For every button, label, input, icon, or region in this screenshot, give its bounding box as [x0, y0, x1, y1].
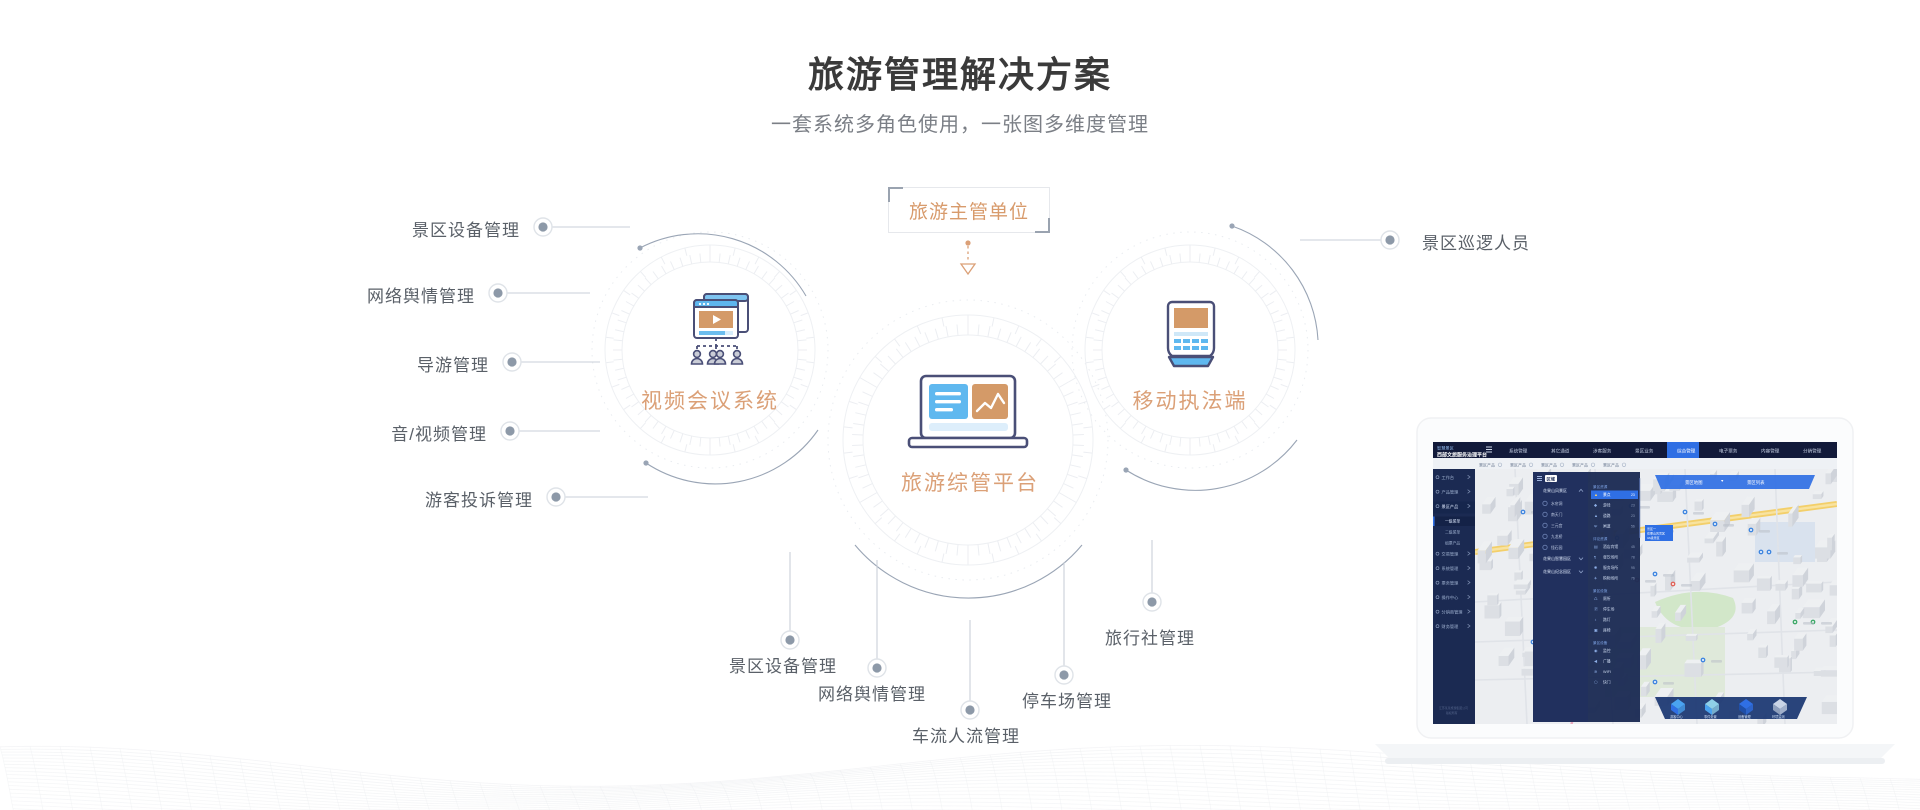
svg-text:花果山纪念园区: 花果山纪念园区 — [1543, 568, 1571, 574]
authority-arrow — [961, 240, 975, 274]
laptop-dashboard-icon — [898, 370, 1038, 460]
node-label: 导游管理 — [417, 351, 489, 376]
authority-box: 旅游主管单位 — [888, 187, 1050, 233]
svg-text:组票产品: 组票产品 — [1445, 541, 1460, 546]
svg-text:景区产品: 景区产品 — [1510, 462, 1526, 468]
svg-text:¶: ¶ — [1594, 555, 1596, 560]
svg-text:♁: ♁ — [1594, 617, 1597, 622]
svg-text:购物场所: 购物场所 — [1603, 576, 1618, 581]
svg-text:停车场: 停车场 — [1603, 607, 1615, 612]
node-label: 网络舆情管理 — [818, 680, 926, 705]
svg-text:九龙桥: 九龙桥 — [1551, 534, 1563, 539]
svg-text:水帘洞: 水帘洞 — [1551, 501, 1563, 506]
hub-label-video-conference: 视频会议系统 — [600, 385, 820, 415]
svg-text:江苏某某旅游集团公司: 江苏某某旅游集团公司 — [1439, 705, 1468, 710]
node-label: 景区设备管理 — [412, 216, 520, 241]
svg-text:电子票务: 电子票务 — [1719, 448, 1738, 455]
node-label: 旅行社管理 — [1105, 624, 1195, 649]
svg-text:23: 23 — [1631, 504, 1635, 508]
node-label: 景区巡逻人员 — [1422, 229, 1530, 254]
svg-text:道路: 道路 — [1603, 513, 1611, 518]
node-label: 游客投诉管理 — [425, 486, 533, 511]
laptop-map-buttons[interactable]: 景区地图景区列表 — [1655, 475, 1815, 489]
svg-text:分销商管理: 分销商管理 — [1442, 609, 1464, 616]
svg-text:游径: 游径 — [1603, 503, 1611, 508]
svg-text:综合管理: 综合管理 — [1677, 448, 1696, 455]
svg-text:广播: 广播 — [1603, 659, 1611, 664]
svg-text:设备管理: 设备管理 — [1738, 714, 1752, 719]
node-label: 车流人流管理 — [912, 722, 1020, 747]
svg-text:景区产品: 景区产品 — [1572, 462, 1588, 468]
svg-text:闸道: 闸道 — [1603, 524, 1611, 529]
svg-text:环境监测: 环境监测 — [1772, 714, 1785, 719]
svg-text:工作台: 工作台 — [1442, 474, 1455, 481]
node-label: 景区设备管理 — [729, 652, 837, 677]
svg-text:厕所: 厕所 — [1603, 596, 1611, 601]
svg-text:景区产品: 景区产品 — [1479, 462, 1495, 468]
svg-text:分销管理: 分销管理 — [1803, 448, 1822, 455]
svg-text:花果山风景区: 花果山风景区 — [1647, 531, 1665, 536]
svg-text:版权所有: 版权所有 — [1446, 710, 1458, 715]
svg-text:智慧景区: 智慧景区 — [1437, 445, 1454, 452]
svg-text:≋: ≋ — [1594, 669, 1597, 674]
svg-text:游客中心: 游客中心 — [1670, 714, 1684, 719]
svg-text:▲: ▲ — [1594, 492, 1598, 497]
page-title: 旅游管理解决方案 — [0, 46, 1920, 98]
page-subtitle: 一套系统多角色使用，一张图多维度管理 — [0, 108, 1920, 137]
svg-text:交易管理: 交易管理 — [1442, 551, 1460, 558]
svg-text:产品管理: 产品管理 — [1442, 489, 1460, 496]
video-window-icon — [680, 288, 770, 378]
svg-text:23: 23 — [1631, 493, 1635, 497]
svg-text:财务管理: 财务管理 — [1442, 623, 1460, 630]
svg-text:▤: ▤ — [1594, 544, 1598, 549]
svg-text:76: 76 — [1631, 577, 1635, 581]
svg-text:景区产品: 景区产品 — [1541, 462, 1557, 468]
svg-text:景区一: 景区一 — [1647, 526, 1656, 531]
node-label: 网络舆情管理 — [367, 282, 475, 307]
svg-text:3A级景区: 3A级景区 — [1647, 535, 1660, 540]
svg-text:服务场所: 服务场所 — [1603, 565, 1618, 570]
svg-text:景区设施: 景区设施 — [1593, 588, 1608, 593]
svg-text:其它通道: 其它通道 — [1551, 448, 1570, 455]
svg-text:95: 95 — [1631, 566, 1635, 570]
laptop-map-canvas[interactable]: 景区一花果山风景区3A级景区 — [1475, 464, 1849, 727]
svg-text:路灯: 路灯 — [1603, 617, 1611, 622]
svg-text:票务管理: 票务管理 — [1442, 580, 1460, 587]
hub-label-tourism-platform: 旅游综管平台 — [830, 467, 1110, 497]
corner-mark-top-left — [888, 187, 903, 202]
svg-text:酒店宾馆: 酒店宾馆 — [1603, 544, 1618, 549]
svg-text:系统管理: 系统管理 — [1442, 565, 1460, 572]
svg-text:景区地图: 景区地图 — [1685, 479, 1703, 486]
svg-text:区域: 区域 — [1547, 476, 1556, 483]
svg-text:♺: ♺ — [1594, 596, 1598, 601]
svg-text:涉客服务: 涉客服务 — [1593, 448, 1612, 455]
svg-text:内容管理: 内容管理 — [1761, 448, 1780, 455]
left-connector-lines — [489, 218, 648, 506]
node-label: 停车场管理 — [1022, 687, 1112, 712]
svg-text:▣: ▣ — [1594, 628, 1598, 633]
svg-text:景区资源: 景区资源 — [1593, 484, 1608, 489]
svg-text:快门: 快门 — [1603, 680, 1611, 685]
svg-text:座椅: 座椅 — [1603, 628, 1611, 633]
svg-text:花果山风景区: 花果山风景区 — [1543, 487, 1567, 493]
svg-text:⬡: ⬡ — [1594, 680, 1598, 685]
svg-text:78: 78 — [1631, 556, 1635, 560]
svg-text:花果山智慧园区: 花果山智慧园区 — [1543, 555, 1571, 561]
svg-text:南天门: 南天门 — [1551, 512, 1563, 517]
right-connector-lines — [1300, 231, 1399, 249]
svg-text:餐饮场所: 餐饮场所 — [1603, 555, 1618, 560]
svg-text:56: 56 — [1631, 525, 1635, 529]
svg-text:二级菜单: 二级菜单 — [1445, 530, 1460, 535]
svg-text:事件处置: 事件处置 — [1704, 714, 1717, 719]
svg-text:景点: 景点 — [1603, 492, 1611, 497]
svg-text:45: 45 — [1631, 545, 1635, 549]
svg-text:▲: ▲ — [1594, 513, 1598, 518]
svg-text:Ⓟ: Ⓟ — [1594, 606, 1598, 612]
svg-text:景区设备: 景区设备 — [1593, 640, 1608, 645]
node-label: 音/视频管理 — [391, 420, 487, 445]
svg-text:◉: ◉ — [1594, 648, 1598, 653]
svg-text:景区产品: 景区产品 — [1603, 462, 1619, 468]
laptop-product-mockup: 智慧景区西部文旅服务治理平台 系统管理其它通道涉客服务景区业务综合管理电子票务内… — [1355, 412, 1915, 792]
svg-text:一级菜单: 一级菜单 — [1445, 519, 1460, 524]
handheld-device-icon — [1158, 296, 1224, 380]
corner-mark-bottom-right — [1035, 218, 1050, 233]
infographic-stage: 旅游管理解决方案 一套系统多角色使用，一张图多维度管理 旅游主管单位 — [0, 0, 1920, 810]
hub-label-mobile-enforcement: 移动执法端 — [1080, 385, 1300, 415]
svg-text:景区业务: 景区业务 — [1635, 448, 1654, 455]
svg-text:23: 23 — [1631, 514, 1635, 518]
svg-text:系统管理: 系统管理 — [1509, 448, 1528, 455]
svg-text:评论资源: 评论资源 — [1593, 536, 1608, 541]
laptop-map-dock[interactable]: 游客中心事件处置设备管理环境监测 — [1655, 697, 1807, 719]
svg-text:景区列表: 景区列表 — [1747, 479, 1765, 486]
svg-text:WIFI: WIFI — [1603, 670, 1611, 674]
svg-text:操作中心: 操作中心 — [1442, 594, 1460, 601]
authority-label: 旅游主管单位 — [909, 197, 1029, 224]
svg-text:景区产品: 景区产品 — [1442, 503, 1459, 510]
svg-text:监控: 监控 — [1603, 648, 1611, 653]
svg-text:西部文旅服务治理平台: 西部文旅服务治理平台 — [1437, 452, 1487, 459]
svg-text:怪石园: 怪石园 — [1551, 545, 1563, 550]
svg-text:三元宫: 三元宫 — [1551, 523, 1563, 528]
